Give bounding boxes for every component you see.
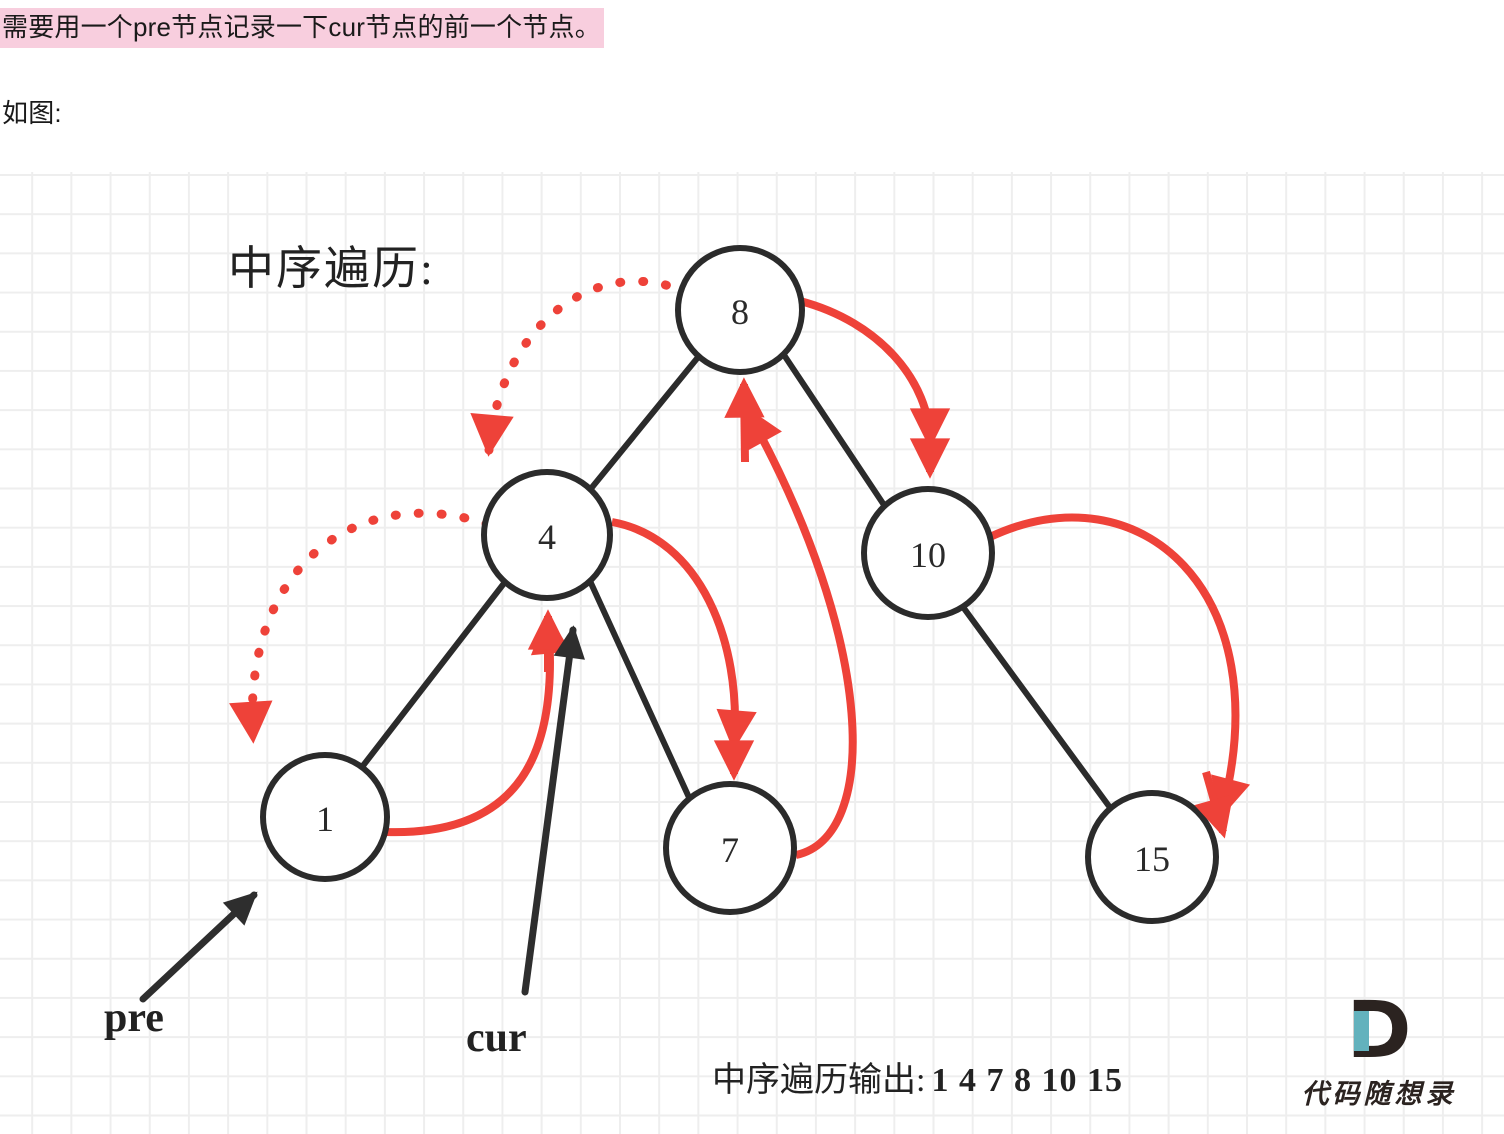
watermark-accent-bar [1354, 1011, 1369, 1051]
watermark: D 代码随想录 [1284, 994, 1474, 1111]
traversal-output-sequence: 1 4 7 8 10 15 [925, 1062, 1123, 1099]
traversal-arrow-4-to-7 [612, 522, 735, 744]
tree-nodes [263, 248, 1216, 921]
tree-edge-8-4 [589, 356, 699, 491]
screenshot-root: 需要用一个pre节点记录一下cur节点的前一个节点。 如图: [0, 0, 1504, 1134]
watermark-logo-icon: D [1284, 994, 1474, 1068]
tree-node-10[interactable] [864, 489, 992, 617]
cur-pointer-label: cur [466, 1014, 527, 1062]
traversal-arrows-dotted [252, 281, 688, 737]
highlighted-sentence: 需要用一个pre节点记录一下cur节点的前一个节点。 [0, 8, 604, 48]
tree-node-7[interactable] [666, 784, 794, 912]
watermark-brand-text: 代码随想录 [1284, 1072, 1474, 1111]
tree-node-1[interactable] [263, 755, 387, 879]
tree-node-15[interactable] [1088, 793, 1216, 921]
traversal-output-caption: 中序遍历输出:1 4 7 8 10 15 [712, 1052, 1123, 1101]
traversal-output-label: 中序遍历输出: [712, 1062, 925, 1099]
tree-edge-4-1 [362, 582, 505, 767]
traversal-arrow-1-to-4-real [386, 620, 550, 832]
pre-pointer-arrow [143, 895, 254, 999]
diagram-vector-layer [0, 172, 1504, 1134]
pre-pointer-label: pre [104, 994, 164, 1042]
traversal-arrowheads-overlay [548, 384, 1223, 832]
traversal-arrow-8-to-4 [489, 281, 688, 450]
diagram-title: 中序遍历: [228, 232, 435, 298]
traversal-arrow-10-to-15 [990, 518, 1235, 812]
tree-node-4[interactable] [484, 472, 610, 598]
traversal-arrow-7-to-8 [748, 412, 853, 855]
tree-edge-4-7 [590, 581, 692, 804]
tree-edge-8-10 [784, 355, 888, 511]
tree-node-8[interactable] [678, 248, 802, 372]
traversal-arrow-4-to-1 [252, 513, 487, 737]
traversal-arrow-8-to-10 [800, 301, 930, 442]
binary-tree-diagram: 8 4 10 1 7 15 中序遍历: pre cur 中序遍历输出:1 4 7… [0, 172, 1504, 1134]
tree-edge-10-15 [963, 607, 1114, 813]
traversal-arrowhead-to-8 [744, 384, 745, 462]
figure-lead-in-text: 如图: [0, 96, 62, 130]
